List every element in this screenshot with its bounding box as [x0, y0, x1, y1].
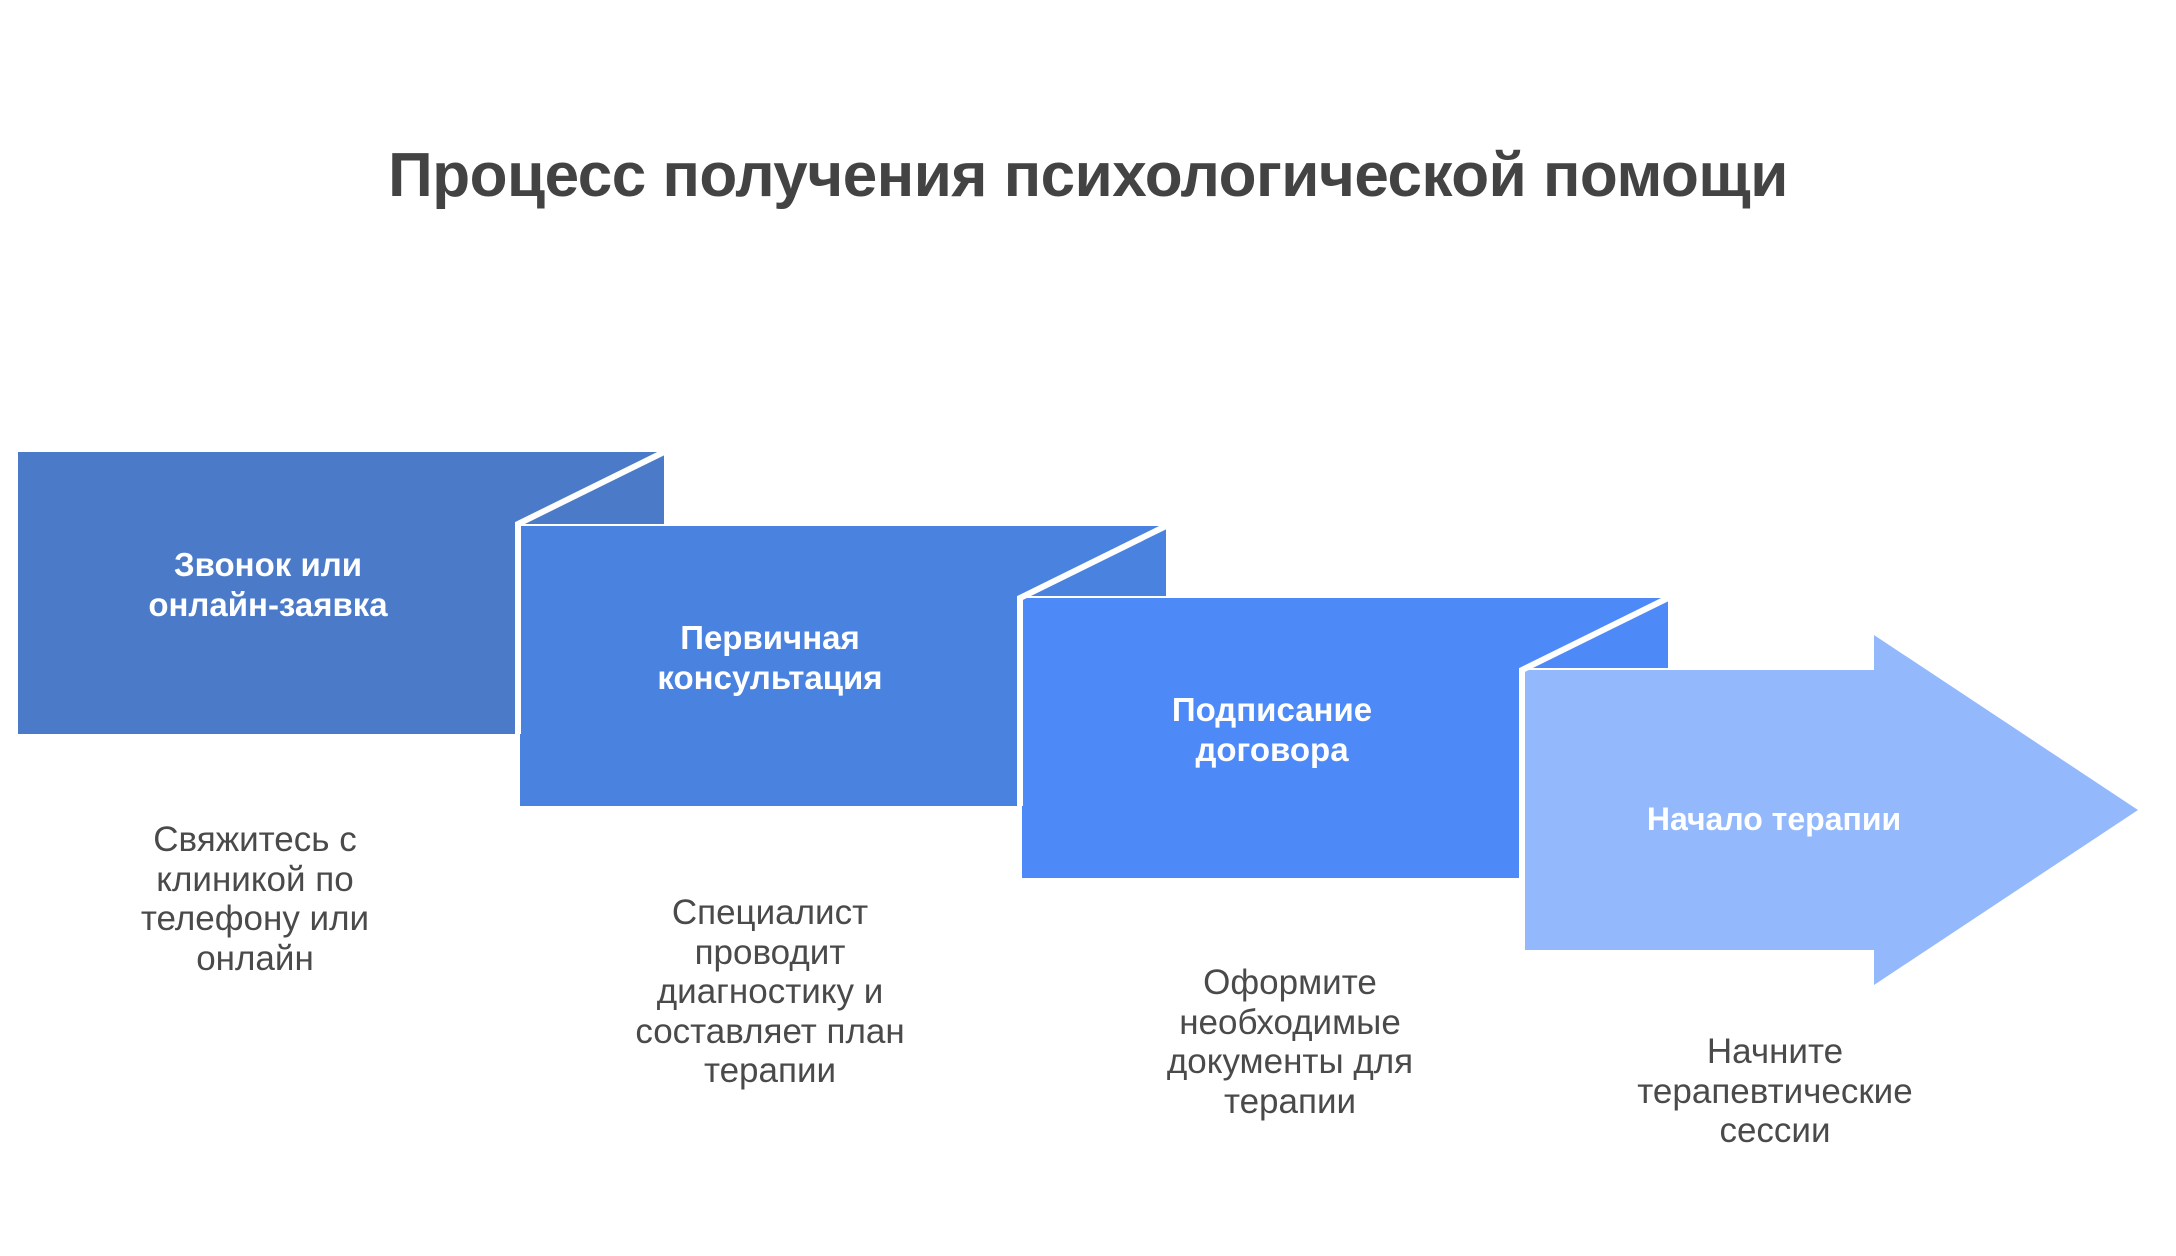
process-diagram: Звонок или онлайн-заявка Первичная консу…	[0, 0, 2176, 1256]
step-caption-4: Начните терапевтические сессии	[1555, 1032, 1995, 1151]
step-shape-4[interactable]	[1524, 635, 2138, 985]
step-caption-1: Свяжитесь с клиникой по телефону или онл…	[45, 820, 465, 978]
step-caption-2: Специалист проводит диагностику и состав…	[555, 893, 985, 1091]
slide-canvas: Процесс получения психологической помощи…	[0, 0, 2176, 1256]
step-caption-3: Оформите необходимые документы для терап…	[1065, 963, 1515, 1121]
